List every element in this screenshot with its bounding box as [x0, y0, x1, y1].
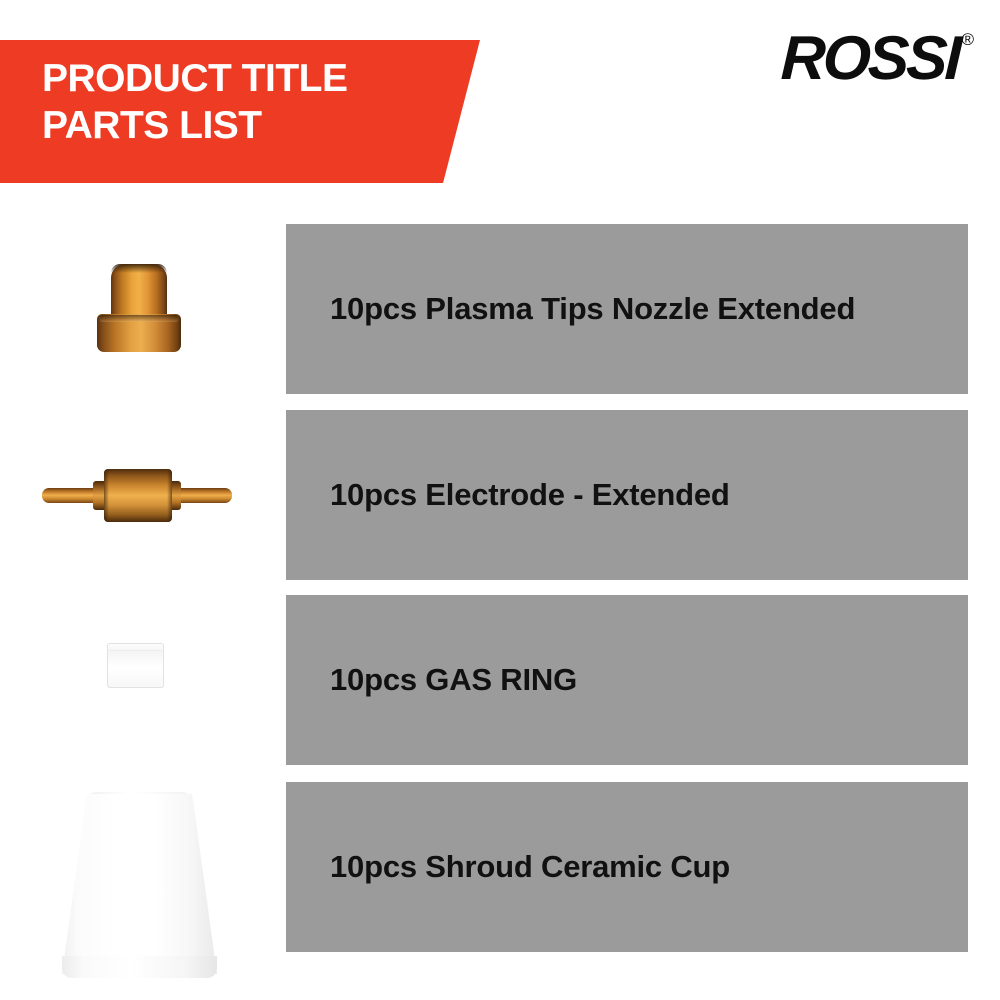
- parts-list-page: PRODUCT TITLE PARTS LIST ROSSI ® 10pcs P…: [0, 0, 1000, 1000]
- part-label-bar: 10pcs GAS RING: [286, 595, 968, 765]
- electrode-body: [104, 469, 172, 522]
- white-ceramic-cup-icon: [62, 794, 217, 974]
- page-title: PRODUCT TITLE PARTS LIST: [42, 55, 462, 149]
- brand-logo-wordmark: ROSSI: [779, 28, 959, 90]
- nozzle-flange: [97, 314, 181, 352]
- copper-electrode-icon: [42, 464, 232, 526]
- brand-logo: ROSSI ®: [781, 28, 974, 90]
- part-label-text: 10pcs Shroud Ceramic Cup: [286, 849, 730, 885]
- page-header: PRODUCT TITLE PARTS LIST ROSSI ®: [0, 0, 1000, 210]
- part-label-bar: 10pcs Plasma Tips Nozzle Extended: [286, 224, 968, 394]
- part-row: 10pcs Shroud Ceramic Cup: [0, 782, 1000, 952]
- part-row: 10pcs GAS RING: [0, 595, 1000, 765]
- part-label-text: 10pcs Electrode - Extended: [286, 477, 730, 513]
- part-thumbnail-nozzle: [0, 224, 286, 394]
- white-gas-ring-icon: [107, 643, 164, 688]
- registered-trademark-icon: ®: [961, 30, 974, 50]
- part-label-bar: 10pcs Shroud Ceramic Cup: [286, 782, 968, 952]
- part-thumbnail-electrode: [0, 410, 286, 580]
- page-title-line-2: PARTS LIST: [42, 102, 462, 149]
- part-label-bar: 10pcs Electrode - Extended: [286, 410, 968, 580]
- part-thumbnail-gas-ring: [0, 595, 286, 765]
- ceramic-cup-base: [62, 956, 217, 978]
- part-thumbnail-ceramic-cup: [0, 782, 286, 1000]
- part-row: 10pcs Electrode - Extended: [0, 410, 1000, 580]
- part-label-text: 10pcs Plasma Tips Nozzle Extended: [286, 291, 855, 327]
- part-row: 10pcs Plasma Tips Nozzle Extended: [0, 224, 1000, 394]
- part-label-text: 10pcs GAS RING: [286, 662, 577, 698]
- copper-nozzle-icon: [97, 264, 181, 354]
- page-title-line-1: PRODUCT TITLE: [42, 55, 462, 102]
